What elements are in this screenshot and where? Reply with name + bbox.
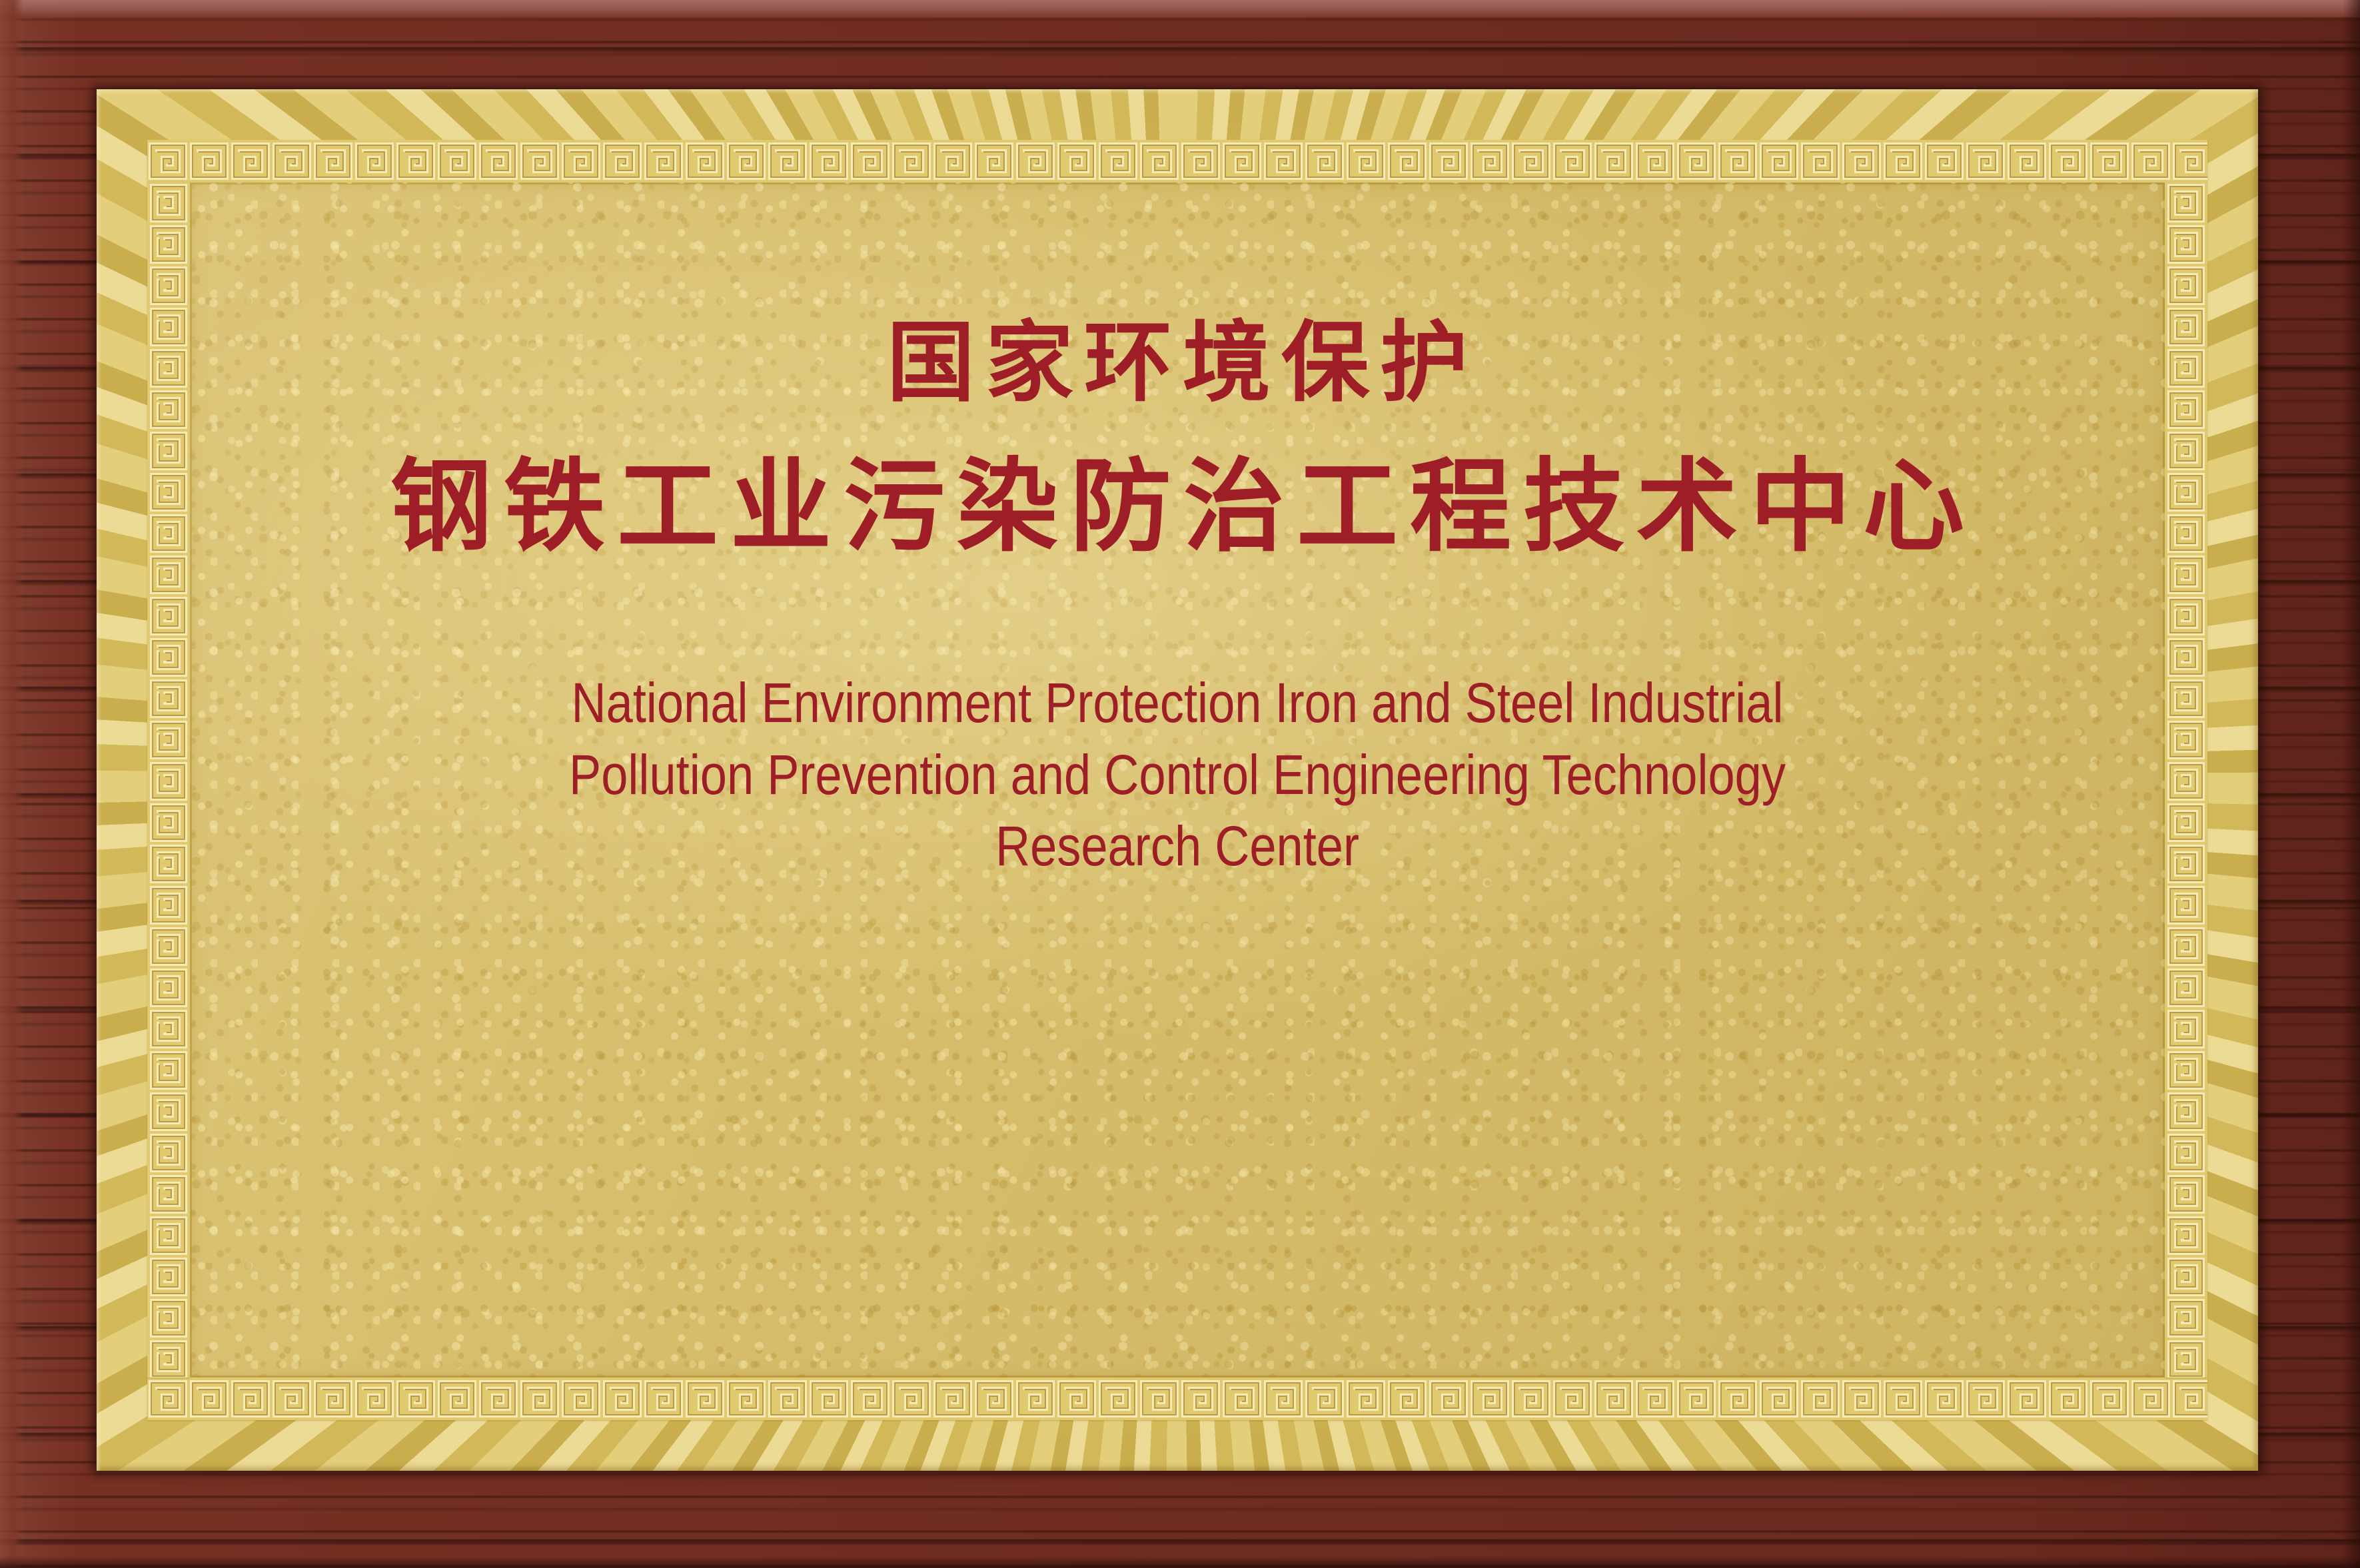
english-title: National Environment Protection Iron and… [381,667,1974,883]
meander-band-right [2165,183,2207,1377]
frame-bevel-top [0,0,2360,17]
english-title-line-2: Pollution Prevention and Control Enginee… [381,739,1974,811]
inscription-field: 国家环境保护 钢铁工业污染防治工程技术中心 National Environme… [190,183,2165,1377]
frame-bevel-right [2343,0,2360,1568]
english-title-line-3: Research Center [381,811,1974,883]
meander-band-bottom [147,1377,2207,1420]
frame-bevel-bottom [0,1556,2360,1568]
gold-plate: 国家环境保护 钢铁工业污染防治工程技术中心 National Environme… [97,89,2258,1471]
english-title-line-1: National Environment Protection Iron and… [381,667,1974,739]
meander-band-left [147,183,190,1377]
award-plaque: 国家环境保护 钢铁工业污染防治工程技术中心 National Environme… [0,0,2360,1568]
frame-bevel-left [0,0,23,1568]
chinese-title-line-1: 国家环境保护 [876,319,1478,407]
meander-band-top [147,140,2207,183]
inscription-text: 国家环境保护 钢铁工业污染防治工程技术中心 National Environme… [190,183,2165,1377]
chinese-title-line-2: 钢铁工业污染防治工程技术中心 [378,456,1976,558]
